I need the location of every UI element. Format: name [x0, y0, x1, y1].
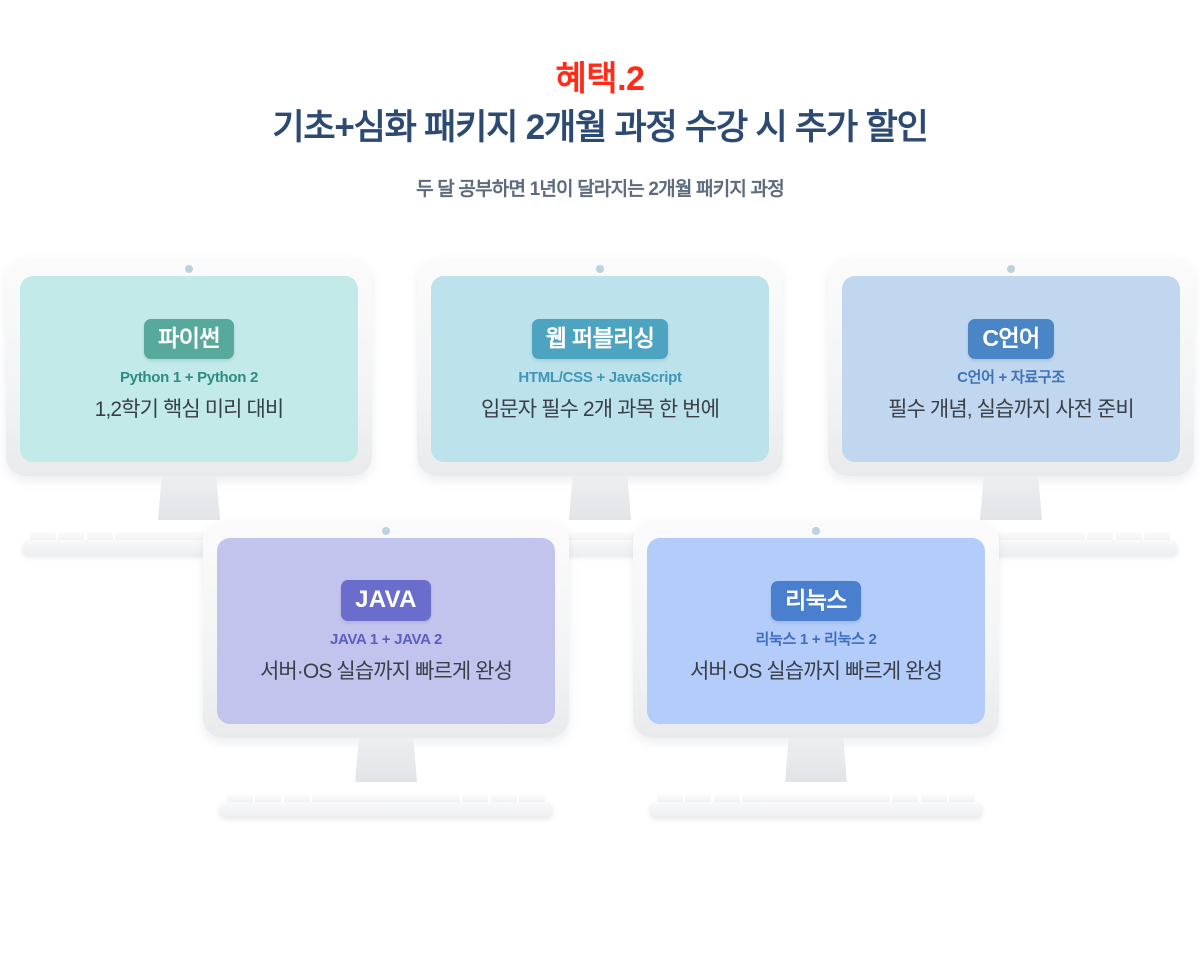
course-monitor-web-publishing[interactable]: 웹 퍼블리싱 HTML/CSS + JavaScript 입문자 필수 2개 과… — [417, 258, 783, 556]
monitor-stand — [158, 476, 220, 520]
course-subjects: JAVA 1 + JAVA 2 — [330, 632, 442, 647]
course-badge: 웹 퍼블리싱 — [532, 319, 669, 359]
course-description: 1,2학기 핵심 미리 대비 — [95, 399, 284, 420]
course-monitor-grid: 파이썬 Python 1 + Python 2 1,2학기 핵심 미리 대비 — [0, 258, 1200, 958]
course-monitor-c-language[interactable]: C언어 C언어 + 자료구조 필수 개념, 실습까지 사전 준비 — [828, 258, 1194, 556]
course-description: 입문자 필수 2개 과목 한 번에 — [481, 399, 719, 420]
webcam-dot-icon — [596, 265, 604, 273]
keyboard — [203, 784, 569, 818]
course-subjects: C언어 + 자료구조 — [957, 370, 1065, 385]
course-monitor-java[interactable]: JAVA JAVA 1 + JAVA 2 서버·OS 실습까지 빠르게 완성 — [203, 520, 569, 818]
monitor-bezel: 파이썬 Python 1 + Python 2 1,2학기 핵심 미리 대비 — [6, 258, 372, 476]
course-badge: C언어 — [968, 319, 1053, 359]
webcam-dot-icon — [1007, 265, 1015, 273]
keyboard-base — [219, 802, 553, 818]
promo-page: 혜택.2 기초+심화 패키지 2개월 과정 수강 시 추가 할인 두 달 공부하… — [0, 0, 1200, 958]
monitor-screen: 웹 퍼블리싱 HTML/CSS + JavaScript 입문자 필수 2개 과… — [431, 276, 769, 462]
course-subjects: 리눅스 1 + 리눅스 2 — [755, 632, 876, 647]
course-description: 필수 개념, 실습까지 사전 준비 — [888, 399, 1134, 420]
webcam-dot-icon — [812, 527, 820, 535]
keyboard-base — [649, 802, 983, 818]
monitor-stand — [980, 476, 1042, 520]
monitor-screen: C언어 C언어 + 자료구조 필수 개념, 실습까지 사전 준비 — [842, 276, 1180, 462]
course-monitor-python[interactable]: 파이썬 Python 1 + Python 2 1,2학기 핵심 미리 대비 — [6, 258, 372, 556]
monitor-stand — [569, 476, 631, 520]
monitor-bezel: 리눅스 리눅스 1 + 리눅스 2 서버·OS 실습까지 빠르게 완성 — [633, 520, 999, 738]
course-badge: JAVA — [341, 580, 431, 621]
course-badge: 리눅스 — [771, 581, 861, 621]
course-monitor-linux[interactable]: 리눅스 리눅스 1 + 리눅스 2 서버·OS 실습까지 빠르게 완성 — [633, 520, 999, 818]
benefit-tag: 혜택.2 — [0, 58, 1200, 101]
monitor-bezel: 웹 퍼블리싱 HTML/CSS + JavaScript 입문자 필수 2개 과… — [417, 258, 783, 476]
keyboard — [633, 784, 999, 818]
course-description: 서버·OS 실습까지 빠르게 완성 — [690, 661, 942, 682]
monitor-screen: 파이썬 Python 1 + Python 2 1,2학기 핵심 미리 대비 — [20, 276, 358, 462]
monitor-screen: 리눅스 리눅스 1 + 리눅스 2 서버·OS 실습까지 빠르게 완성 — [647, 538, 985, 724]
course-subjects: Python 1 + Python 2 — [120, 370, 258, 385]
monitor-screen: JAVA JAVA 1 + JAVA 2 서버·OS 실습까지 빠르게 완성 — [217, 538, 555, 724]
webcam-dot-icon — [382, 527, 390, 535]
page-title: 기초+심화 패키지 2개월 과정 수강 시 추가 할인 — [0, 105, 1200, 151]
page-subtitle: 두 달 공부하면 1년이 달라지는 2개월 패키지 과정 — [0, 174, 1200, 201]
monitor-bezel: C언어 C언어 + 자료구조 필수 개념, 실습까지 사전 준비 — [828, 258, 1194, 476]
course-badge: 파이썬 — [144, 319, 234, 359]
monitor-stand — [355, 738, 417, 782]
monitor-bezel: JAVA JAVA 1 + JAVA 2 서버·OS 실습까지 빠르게 완성 — [203, 520, 569, 738]
monitor-stand — [785, 738, 847, 782]
course-description: 서버·OS 실습까지 빠르게 완성 — [260, 661, 512, 682]
course-subjects: HTML/CSS + JavaScript — [518, 370, 681, 385]
webcam-dot-icon — [185, 265, 193, 273]
promo-header: 혜택.2 기초+심화 패키지 2개월 과정 수강 시 추가 할인 두 달 공부하… — [0, 0, 1200, 201]
